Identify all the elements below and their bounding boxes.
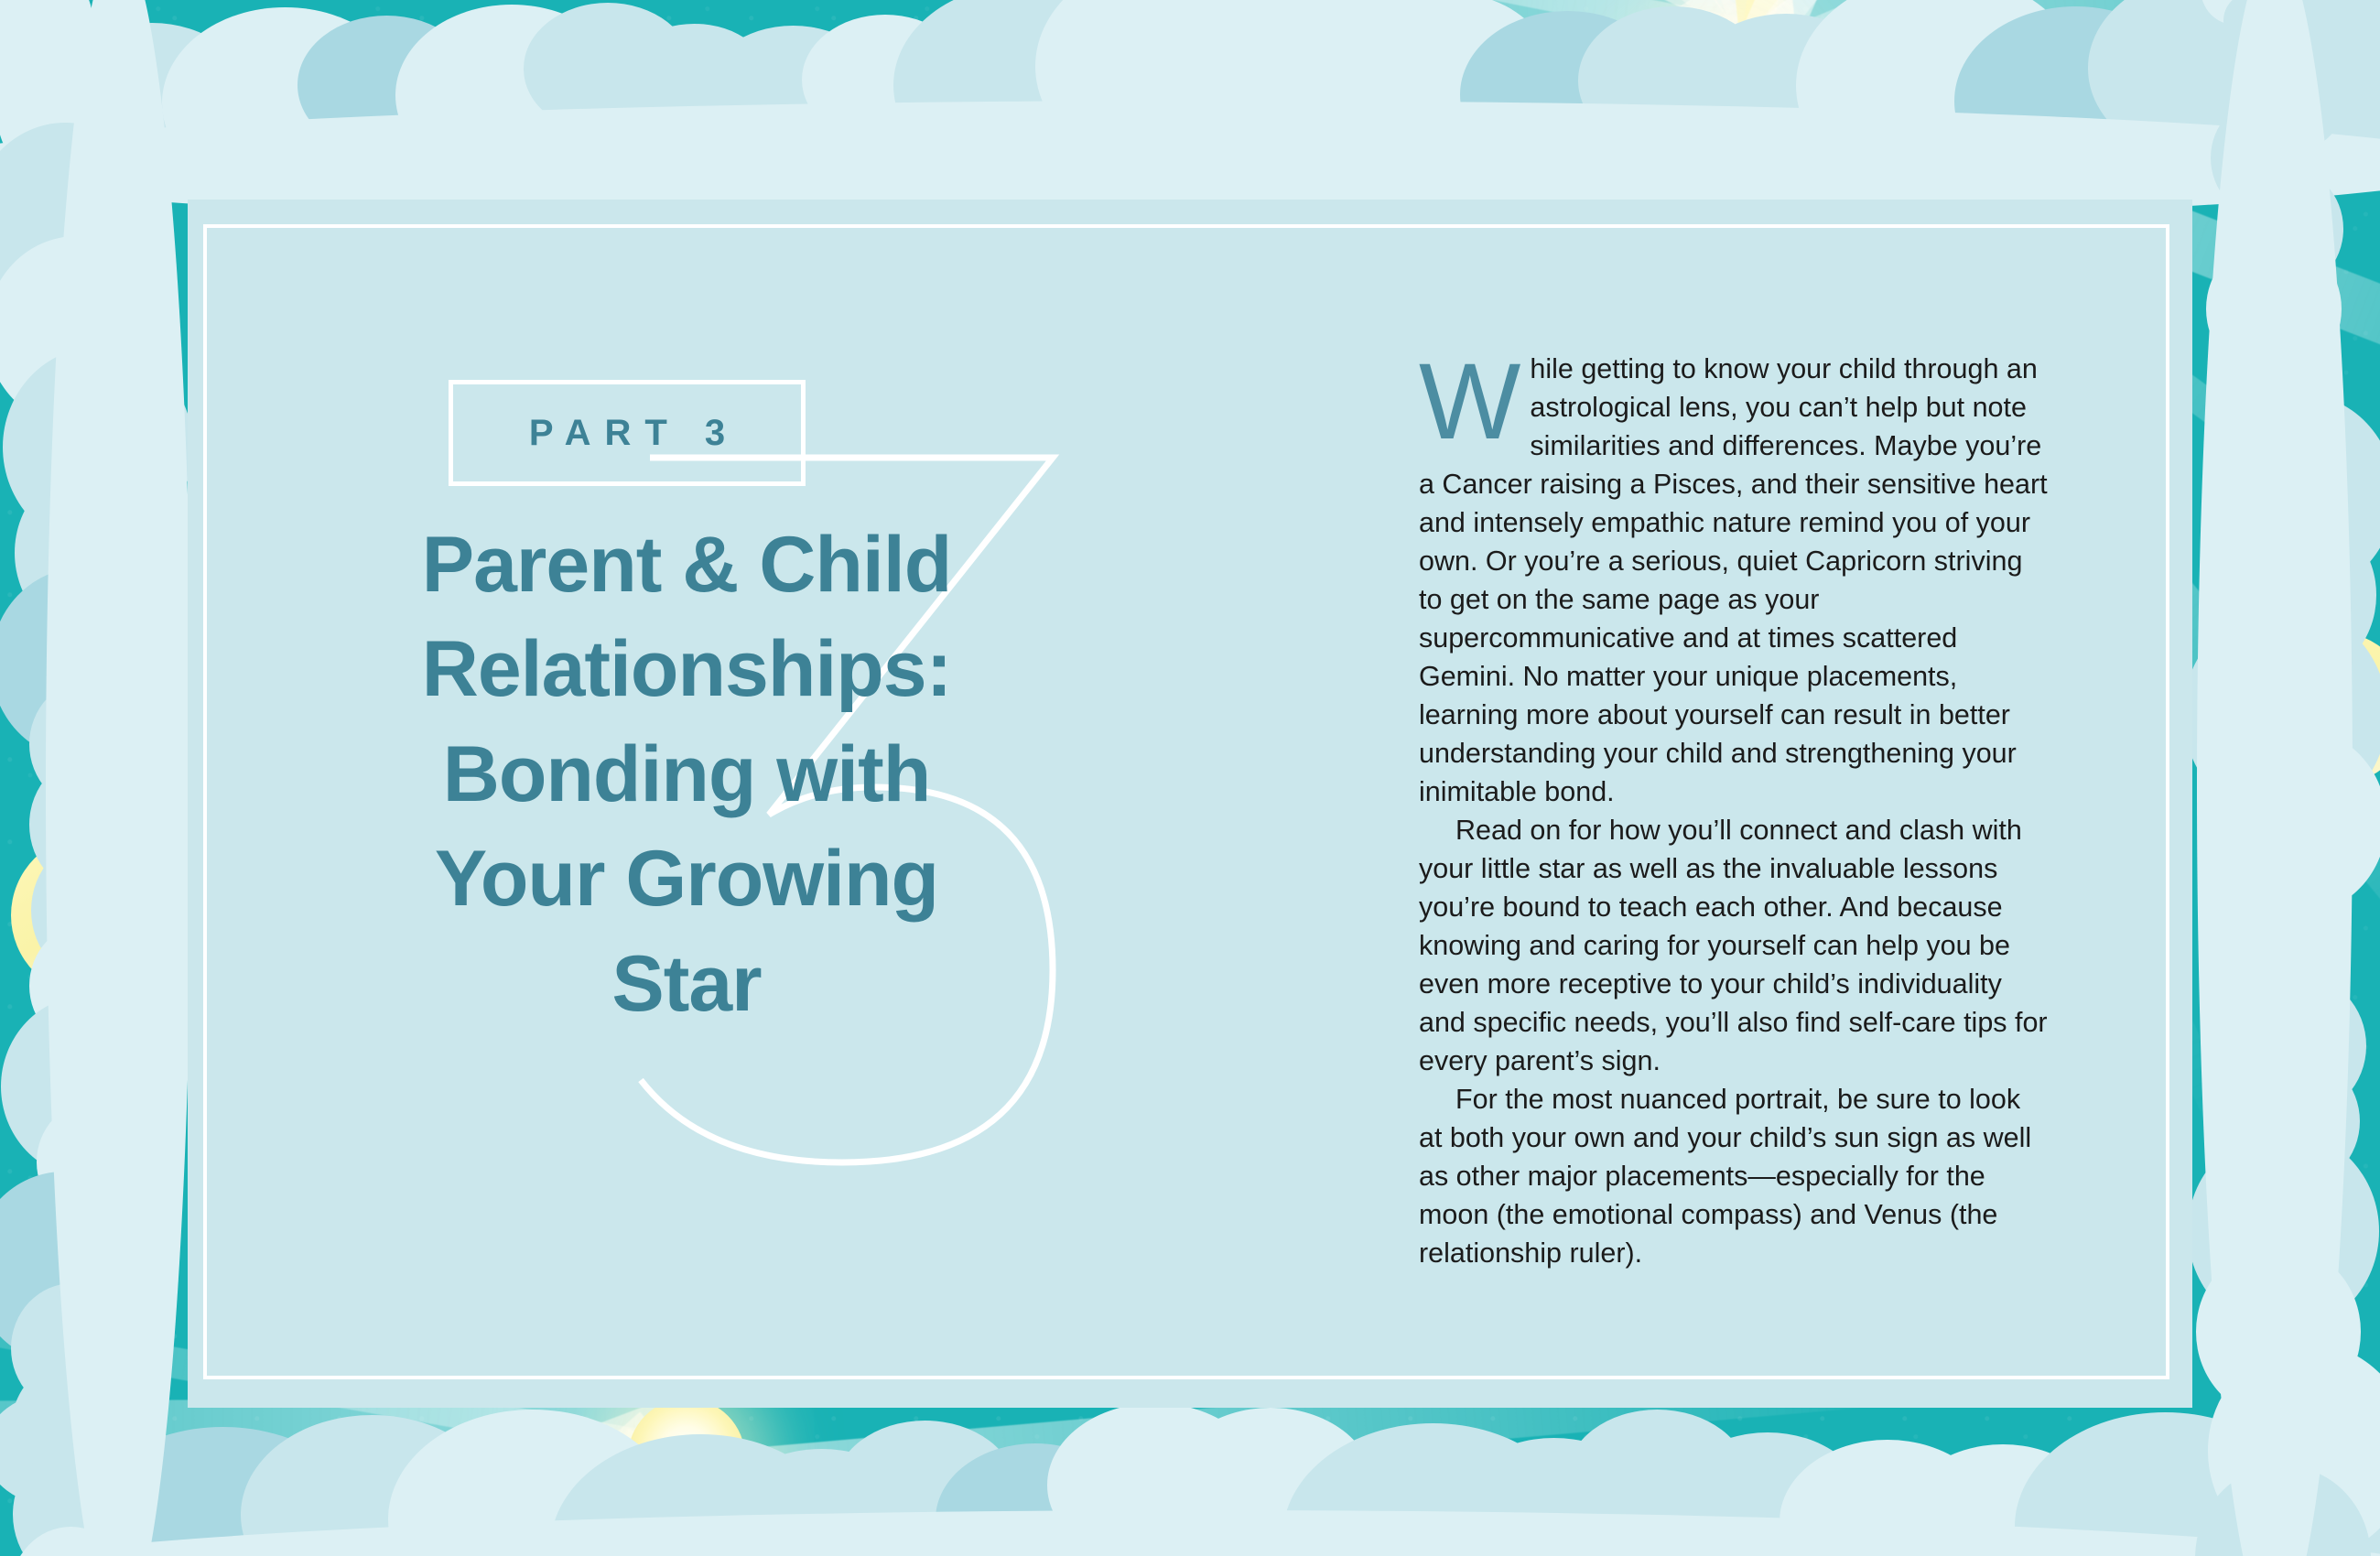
star-icon xyxy=(2105,1492,2109,1496)
crescent-moon-icon-left xyxy=(11,835,172,996)
intro-paragraph-1: While getting to know your child through… xyxy=(1419,350,2050,811)
star-icon xyxy=(384,1501,388,1505)
star-icon xyxy=(2307,275,2311,279)
star-icon xyxy=(1877,1538,1880,1541)
sun-icon-top xyxy=(1655,35,1767,146)
star-icon xyxy=(179,1007,183,1010)
star-icon xyxy=(20,1036,25,1041)
star-icon xyxy=(366,99,370,103)
star-icon xyxy=(1446,1428,1451,1432)
star-icon xyxy=(1401,88,1405,92)
title-column: PART 3 Parent & ChildRelationships:Bondi… xyxy=(275,366,1098,1162)
sun-icon-bottom xyxy=(628,1399,745,1516)
star-icon xyxy=(119,929,123,933)
intro-paragraph-3: For the most nuanced portrait, be sure t… xyxy=(1419,1080,2050,1272)
star-icon xyxy=(633,66,637,70)
page-title: Parent & ChildRelationships:Bonding with… xyxy=(275,513,1098,1036)
crescent-moon-icon-bottom-right xyxy=(1800,1457,1888,1545)
crescent-moon-icon-top-left xyxy=(483,37,586,139)
star-icon xyxy=(586,1547,590,1551)
star-icon xyxy=(897,1464,901,1468)
star-icon xyxy=(2224,430,2228,434)
star-icon xyxy=(2270,1053,2274,1056)
star-icon xyxy=(240,57,244,61)
part-label: PART 3 xyxy=(515,413,739,454)
star-icon xyxy=(2343,897,2348,902)
page-title-line: Your Growing xyxy=(275,827,1098,931)
part-tag: PART 3 xyxy=(449,380,806,486)
drop-cap: W xyxy=(1419,355,1520,450)
intro-paragraph-2: Read on for how you’ll connect and clash… xyxy=(1419,811,2050,1080)
page-title-line: Relationships: xyxy=(275,617,1098,721)
page-title-line: Parent & Child xyxy=(275,513,1098,617)
page-title-line: Bonding with xyxy=(275,722,1098,827)
intro-text-column: While getting to know your child through… xyxy=(1419,350,2050,1272)
star-icon xyxy=(696,37,700,41)
page-canvas: PART 3 Parent & ChildRelationships:Bondi… xyxy=(0,0,2380,1556)
crescent-moon-icon-right xyxy=(2257,632,2380,785)
page-title-line: Star xyxy=(275,932,1098,1036)
star-icon xyxy=(1272,137,1276,141)
star-icon xyxy=(55,828,59,833)
star-icon xyxy=(1080,37,1084,40)
